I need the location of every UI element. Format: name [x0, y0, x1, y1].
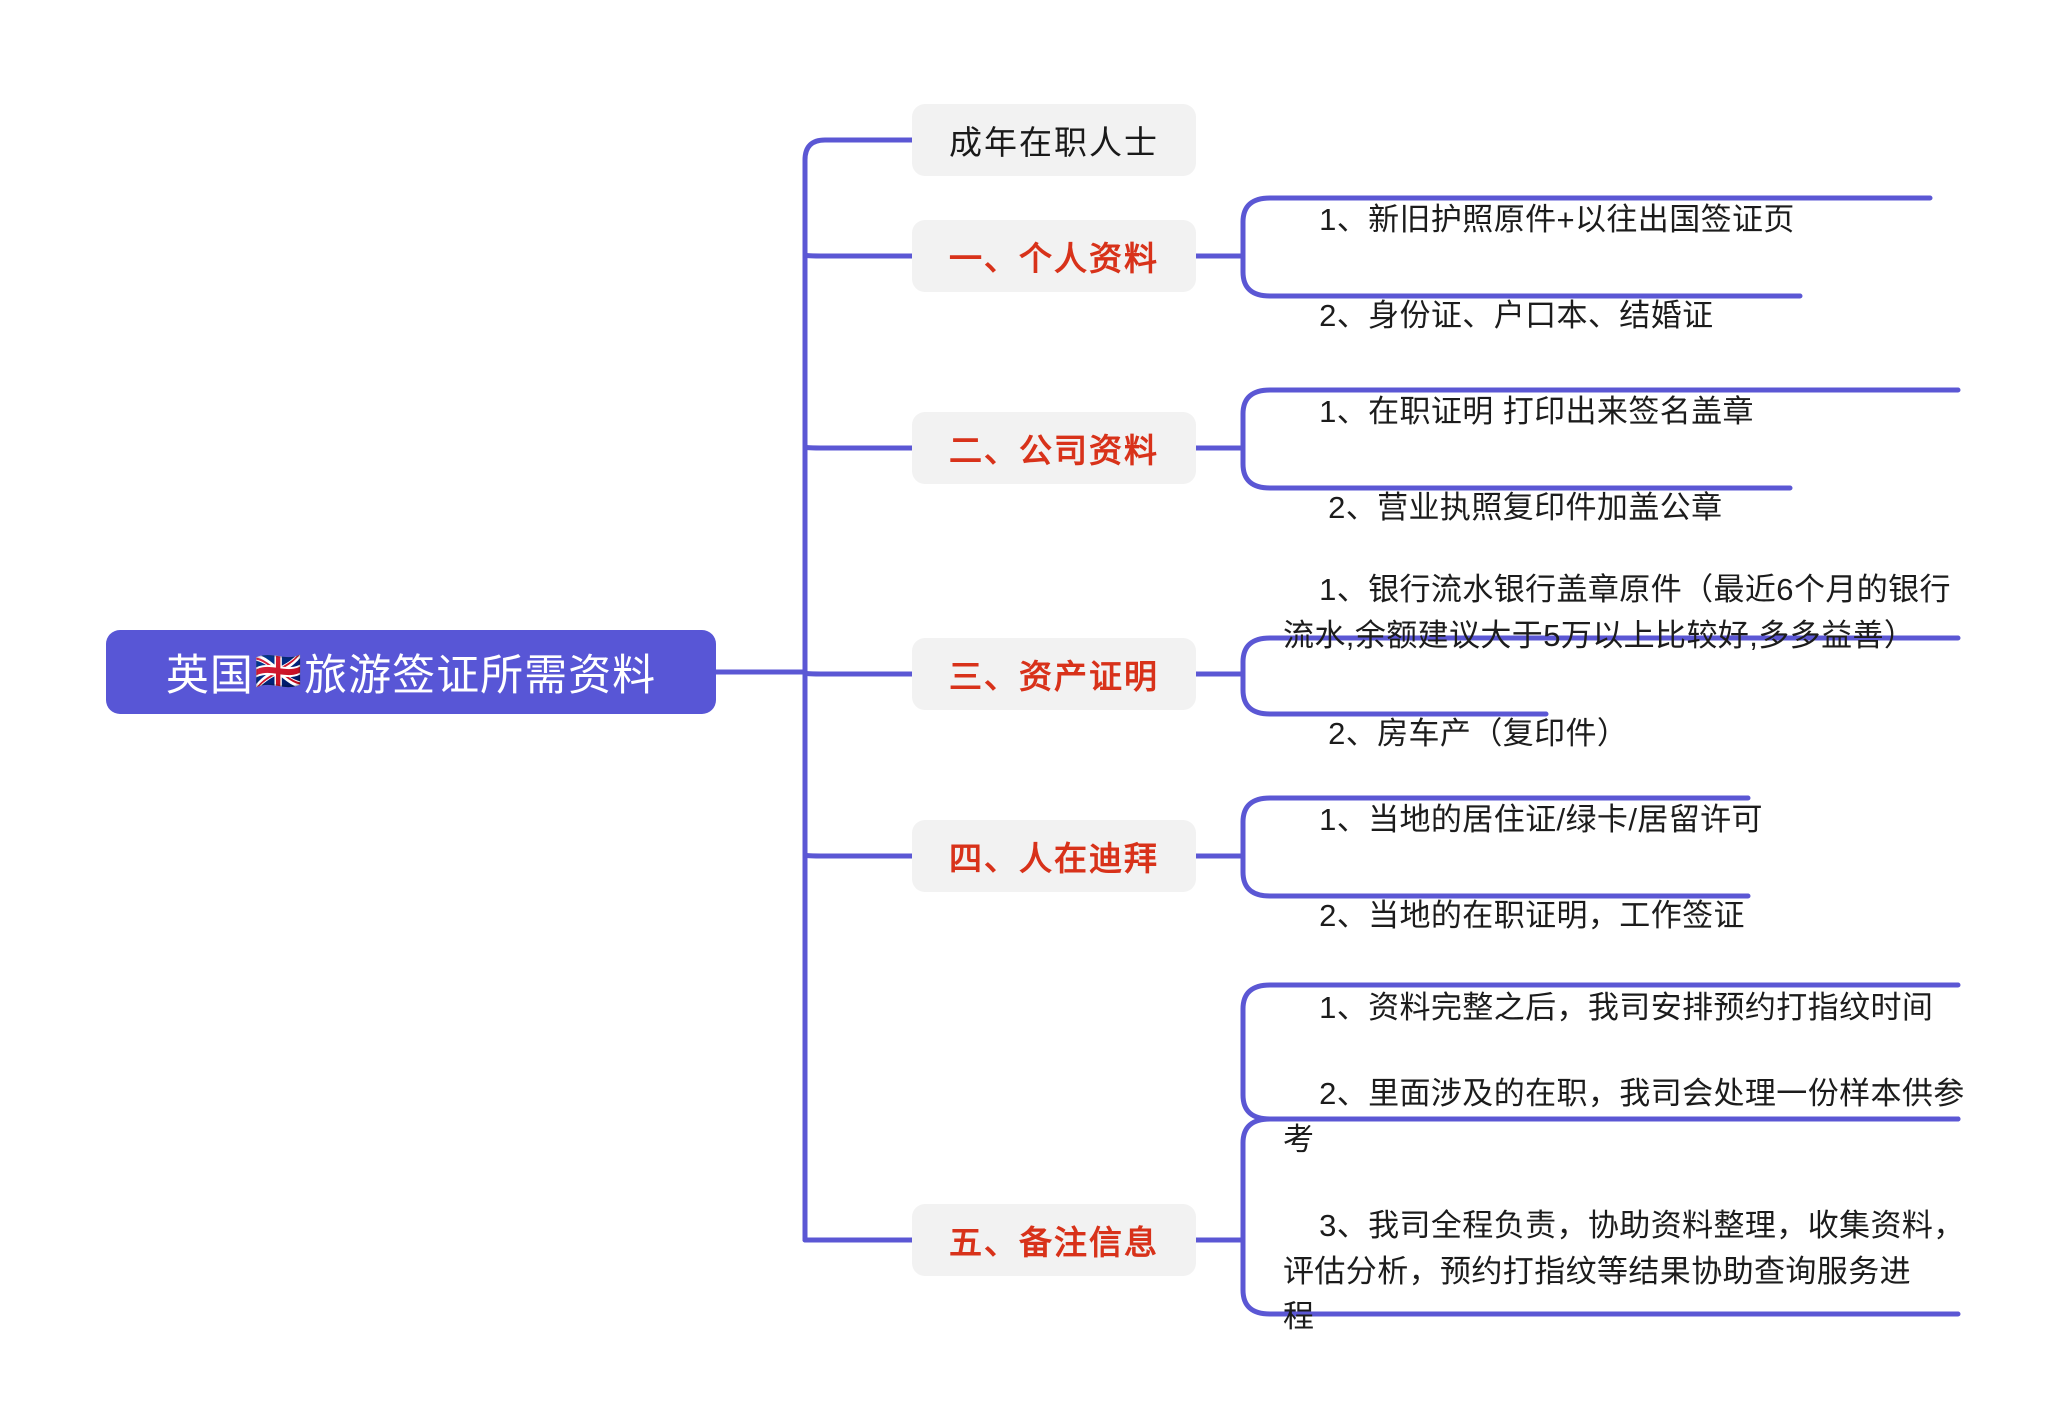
category-label: 三、资产证明 — [949, 650, 1159, 698]
category-label: 成年在职人士 — [949, 116, 1159, 164]
category-label: 四、人在迪拜 — [949, 832, 1159, 880]
wire-branch-asset-proof — [805, 673, 912, 674]
category-label: 一、个人资料 — [949, 232, 1159, 280]
leaf-text: 2、里面涉及的在职，我司会处理一份样本供参 考 — [1283, 1076, 1965, 1156]
uk-flag-icon: 🇬🇧 — [255, 653, 303, 691]
leaf-text: 1、当地的居住证/绿卡/居留许可 — [1319, 802, 1763, 837]
leaf-text: 2、身份证、户口本、结婚证 — [1319, 298, 1713, 333]
root-label-before: 英国 — [166, 641, 254, 703]
mindmap-canvas: 英国🇬🇧旅游签证所需资料 成年在职人士 一、个人资料 二、公司资料 三、资产证明… — [0, 0, 2052, 1414]
leaf-text: 2、房车产（复印件） — [1319, 716, 1628, 751]
leaf-text: 2、当地的在职证明，工作签证 — [1319, 898, 1745, 933]
leaf-text: 1、新旧护照原件+以往出国签证页 — [1319, 202, 1795, 237]
wire-branch-personal-docs — [805, 255, 912, 256]
category-label: 五、备注信息 — [949, 1216, 1159, 1264]
leaf-text: 3、我司全程负责，协助资料整理，收集资料， 评估分析，预约打指纹等结果协助查询服… — [1283, 1208, 1965, 1334]
leaf-remarks-3[interactable]: 3、我司全程负责，协助资料整理，收集资料， 评估分析，预约打指纹等结果协助查询服… — [1283, 1158, 1965, 1389]
category-node-personal-docs[interactable]: 一、个人资料 — [912, 220, 1196, 292]
root-label-after: 旅游签证所需资料 — [304, 641, 656, 703]
leaf-text: 2、营业执照复印件加盖公章 — [1319, 490, 1722, 525]
category-node-asset-proof[interactable]: 三、资产证明 — [912, 638, 1196, 710]
category-label: 二、公司资料 — [949, 424, 1159, 472]
leaf-text: 1、资料完整之后，我司安排预约打指纹时间 — [1319, 990, 1933, 1025]
wire-branch-company-docs — [805, 447, 912, 448]
category-node-person-in-dubai[interactable]: 四、人在迪拜 — [912, 820, 1196, 892]
wire-branch-person-in-dubai — [805, 855, 912, 856]
leaf-text: 1、银行流水银行盖章原件（最近6个月的银行 流水,余额建议大于5万以上比较好,多… — [1283, 572, 1951, 652]
category-node-remarks[interactable]: 五、备注信息 — [912, 1204, 1196, 1276]
wire-branch-adult-worker — [805, 140, 912, 160]
category-node-adult-worker[interactable]: 成年在职人士 — [912, 104, 1196, 176]
leaf-text: 1、在职证明 打印出来签名盖章 — [1319, 394, 1754, 429]
category-node-company-docs[interactable]: 二、公司资料 — [912, 412, 1196, 484]
root-node[interactable]: 英国🇬🇧旅游签证所需资料 — [106, 630, 716, 714]
